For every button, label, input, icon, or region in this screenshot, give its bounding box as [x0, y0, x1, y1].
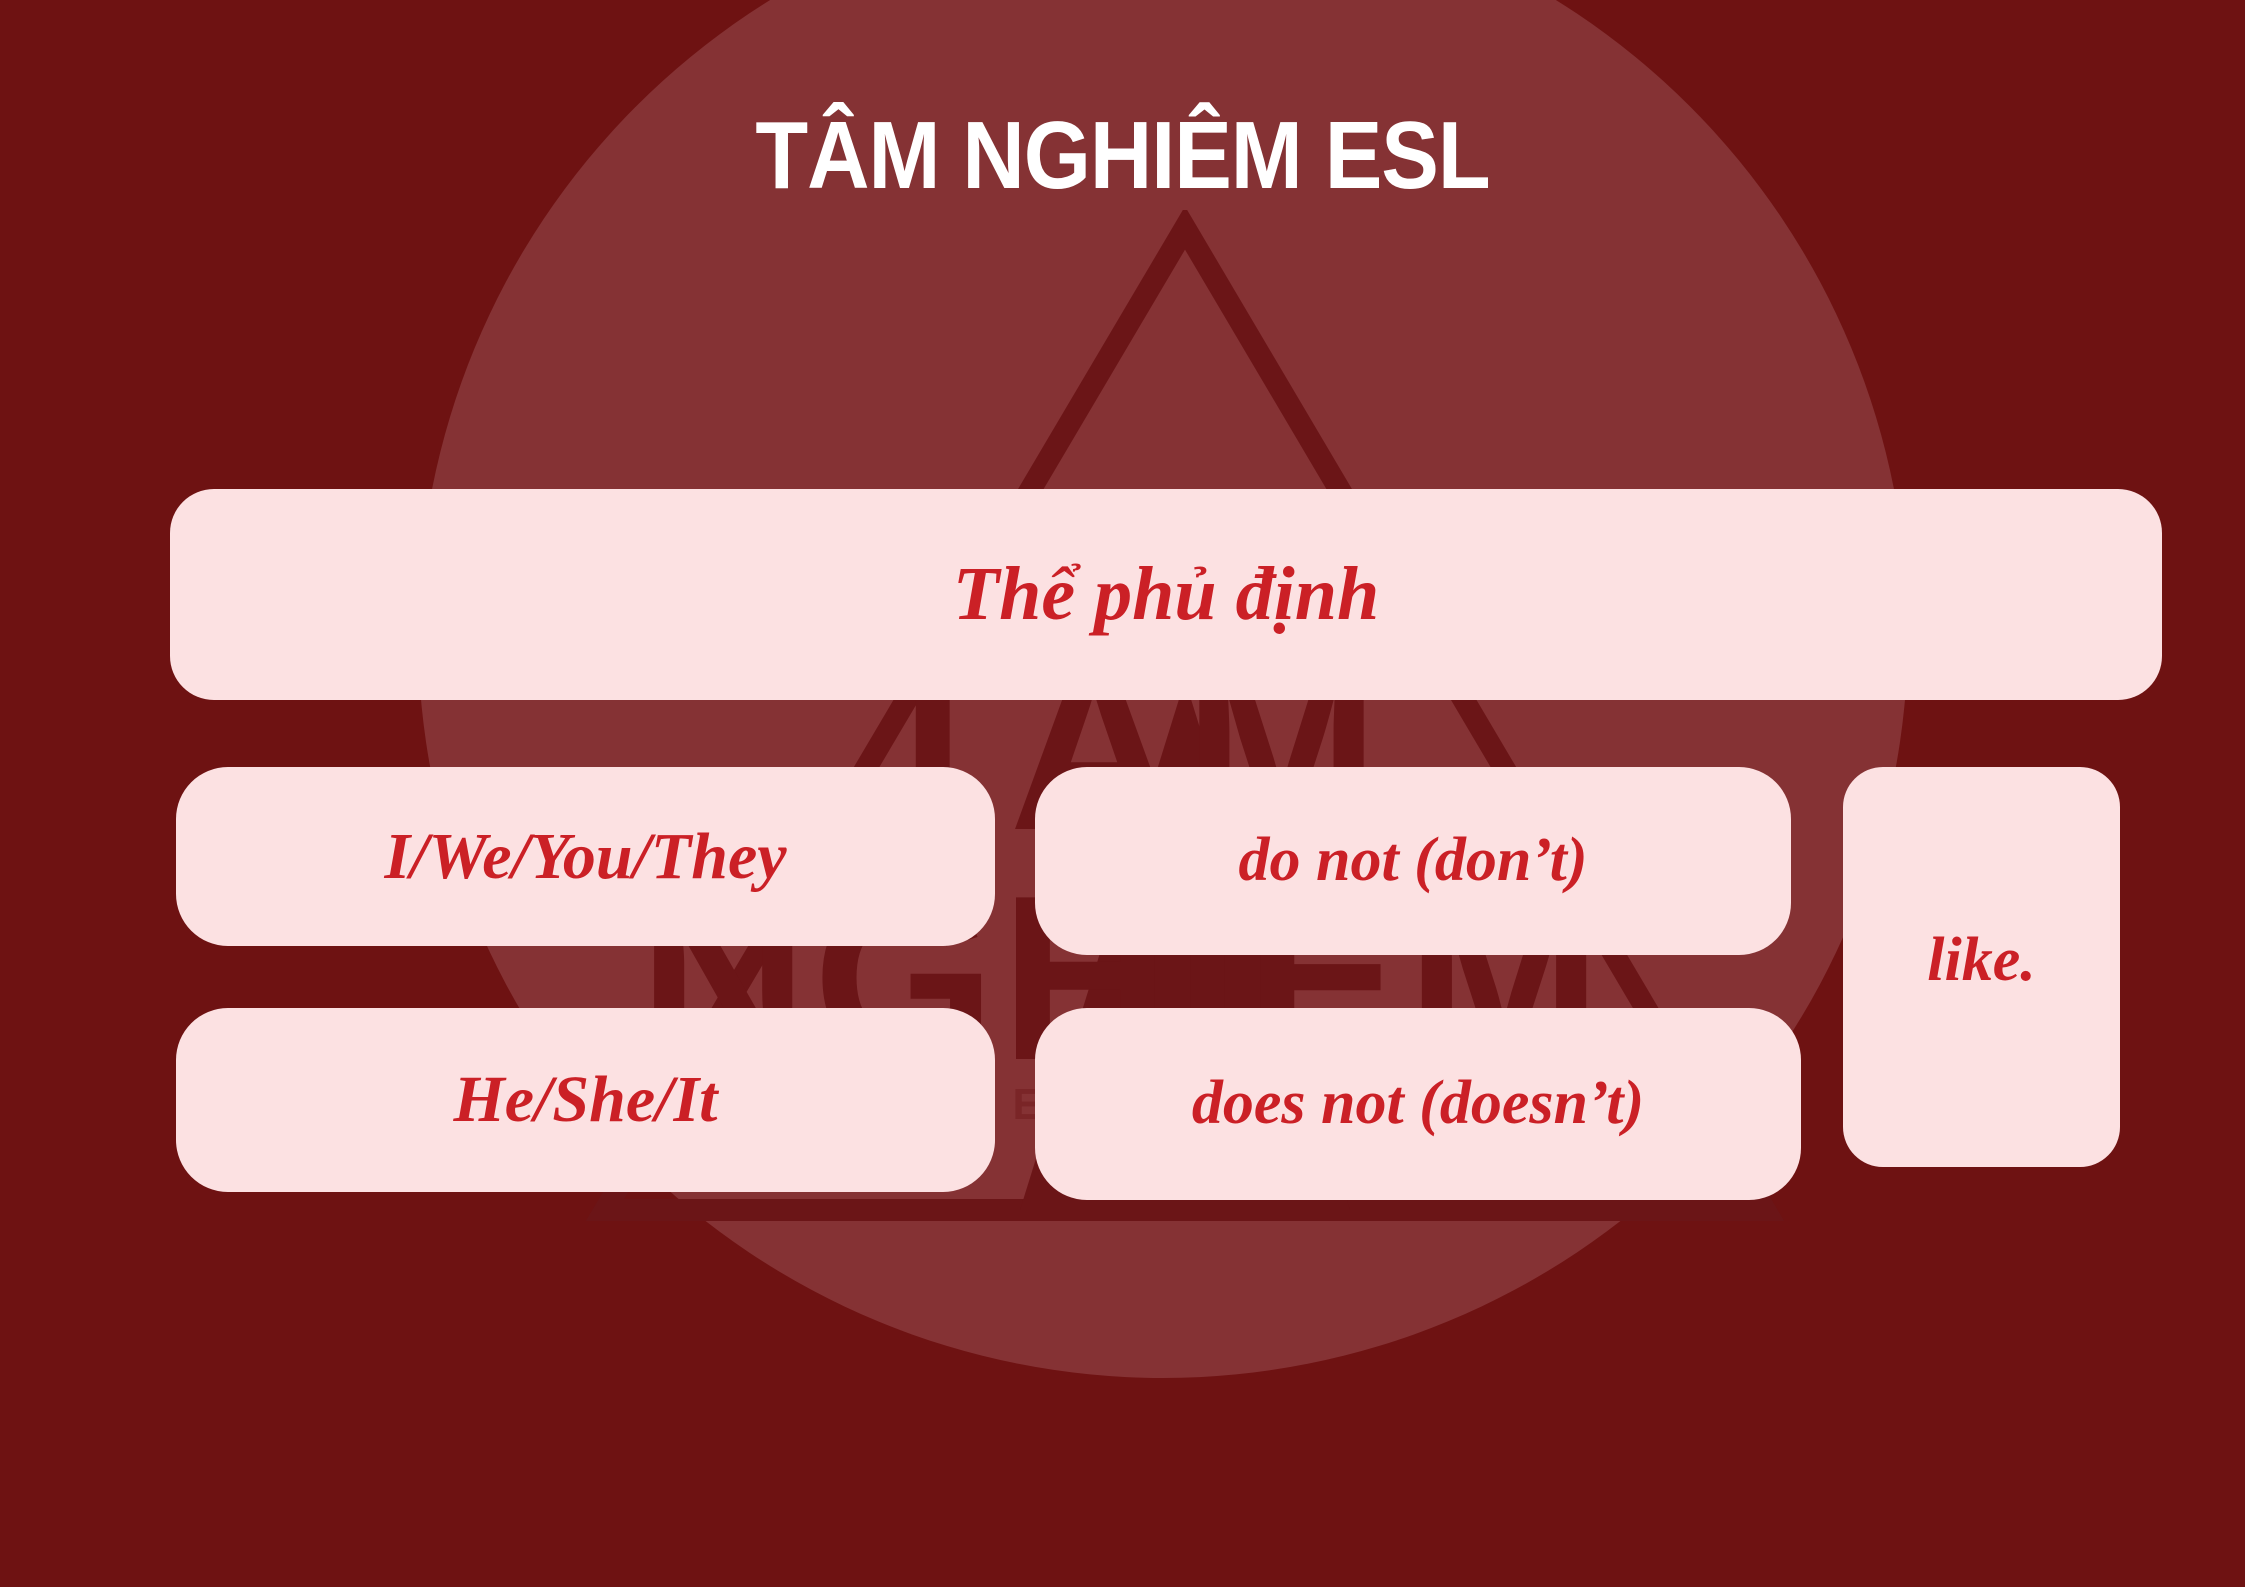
subject-label-row-2: He/She/It — [453, 1065, 717, 1134]
subject-card-row-2: He/She/It — [176, 1008, 995, 1192]
auxiliary-card-row-1: do not (don’t) — [1035, 767, 1791, 955]
slide-canvas: TÂM NGHIÊM E S L TÂM NGHIÊM ESL Thể phủ … — [0, 0, 2245, 1587]
section-header-card: Thể phủ định — [170, 489, 2162, 700]
auxiliary-label-row-1: do not (don’t) — [1238, 828, 1587, 893]
verb-label: like. — [1927, 928, 2035, 993]
section-header-label: Thể phủ định — [953, 555, 1380, 635]
subject-label-row-1: I/We/You/They — [384, 822, 786, 891]
auxiliary-card-row-2: does not (doesn’t) — [1035, 1008, 1801, 1200]
auxiliary-label-row-2: does not (doesn’t) — [1192, 1071, 1644, 1136]
subject-card-row-1: I/We/You/They — [176, 767, 995, 946]
page-title: TÂM NGHIÊM ESL — [112, 108, 2133, 204]
verb-card: like. — [1843, 767, 2120, 1167]
